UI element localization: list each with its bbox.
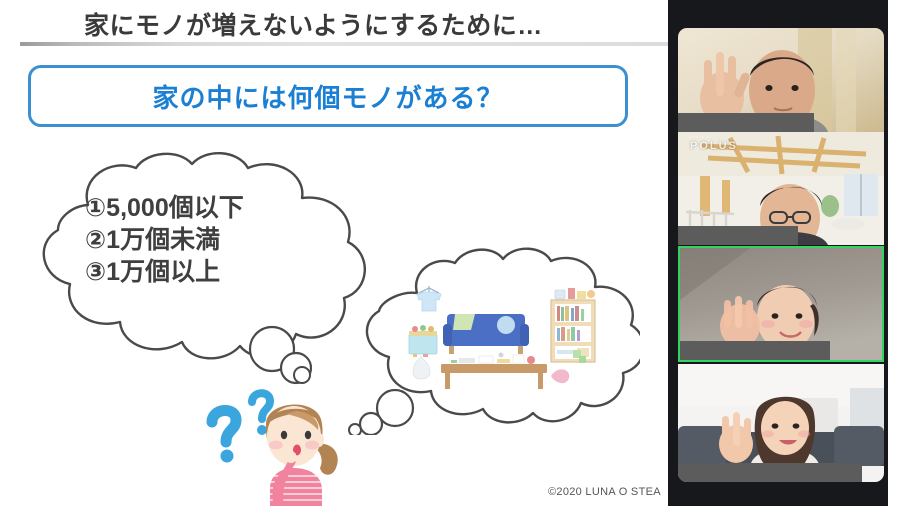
cluttered-room-illustration [405,280,605,395]
video-tile-participant-2[interactable]: LIVING POLUS [678,132,884,245]
question-text: 家の中には何個モノがある？ [152,78,503,115]
video-tile-participant-4[interactable] [678,364,884,482]
polus-watermark-sub: LIVING [690,134,709,139]
option-item: ①5,000個以下 [85,192,345,224]
slide-area: 家にモノが増えないようにするために… 家の中には何個モノがある？ ①5,000個… [0,0,668,506]
polus-watermark: POLUS [690,140,738,152]
option-item: ③1万個以上 [85,256,345,288]
sofa-icon [443,314,529,354]
video-tile-participant-1[interactable] [678,28,884,132]
participant-name-redaction-bar [678,113,814,132]
presentation-screen-share: 家にモノが増えないようにするために… 家の中には何個モノがある？ ①5,000個… [0,0,900,506]
slide-title: 家にモノが増えないようにするために… [84,6,543,42]
raised-hand-icon [719,412,753,463]
participant-name-redaction-bar [678,463,862,482]
option-item: ②1万個未満 [85,224,345,256]
thinking-woman-illustration [200,380,370,506]
video-participants-panel: LIVING POLUS [668,0,888,506]
video-tile-participant-3-active-speaker[interactable] [678,246,884,362]
coffee-table-icon [441,353,547,390]
title-divider [20,42,668,46]
participant-name-redaction-bar [678,226,798,245]
copyright-text: ©2020 LUNA O STEA [548,486,661,498]
options-list: ①5,000個以下 ②1万個未満 ③1万個以上 [85,192,345,288]
woman-figure [266,404,338,506]
laundry-bag-icon [413,356,430,379]
participant-name-redaction-bar [680,341,830,360]
hanging-shirt-icon [417,286,441,311]
question-callout-box: 家の中には何個モノがある？ [28,65,628,127]
toy-box-icon [409,325,437,357]
question-mark-icon [212,410,236,462]
